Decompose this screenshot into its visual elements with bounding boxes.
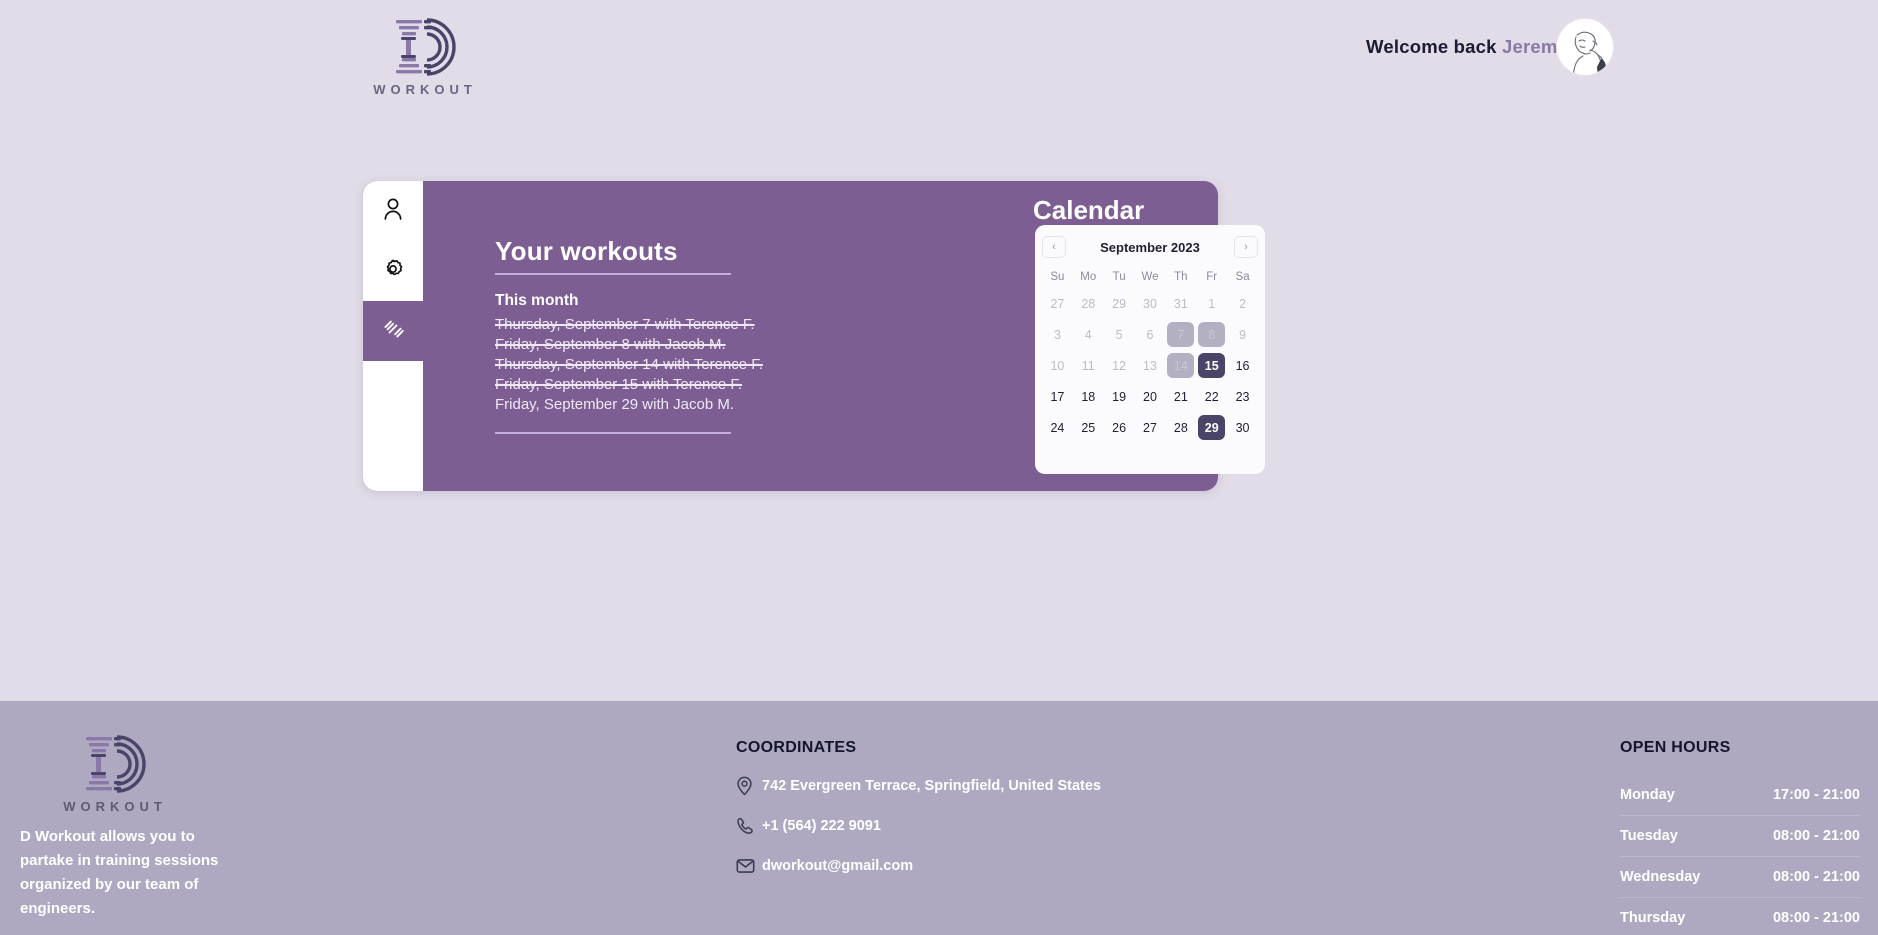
calendar-day-label: 18 xyxy=(1075,384,1102,409)
calendar-day[interactable]: 6 xyxy=(1135,320,1166,349)
gear-icon xyxy=(382,258,404,285)
calendar-day[interactable]: 27 xyxy=(1135,413,1166,442)
footer-brand-logo[interactable]: WORKOUT xyxy=(58,733,168,814)
calendar-day-label: 5 xyxy=(1106,322,1133,347)
calendar-day-label: 23 xyxy=(1229,384,1256,409)
page-title: Your workouts xyxy=(495,236,678,267)
calendar-day[interactable]: 20 xyxy=(1135,382,1166,411)
calendar-day[interactable]: 10 xyxy=(1042,351,1073,380)
calendar-day[interactable]: 1 xyxy=(1196,289,1227,318)
calendar-day[interactable]: 14 xyxy=(1165,351,1196,380)
open-hours-row: Wednesday08:00 - 21:00 xyxy=(1620,857,1860,898)
calendar-day-label: 16 xyxy=(1229,353,1256,378)
calendar-day[interactable]: 5 xyxy=(1104,320,1135,349)
calendar-day-label: 26 xyxy=(1106,415,1133,440)
calendar-day-label: 6 xyxy=(1136,322,1163,347)
calendar-panel[interactable]: ‹ September 2023 › SuMoTuWeThFrSa 272829… xyxy=(1035,225,1265,474)
calendar-day[interactable]: 17 xyxy=(1042,382,1073,411)
calendar-day-label: 28 xyxy=(1075,291,1102,316)
calendar-title: Calendar xyxy=(1033,195,1144,226)
calendar-day-label: 2 xyxy=(1229,291,1256,316)
calendar-day[interactable]: 30 xyxy=(1227,413,1258,442)
calendar-day-label: 4 xyxy=(1075,322,1102,347)
calendar-day-label: 31 xyxy=(1167,291,1194,316)
card-body: Your workouts This month Thursday, Septe… xyxy=(423,181,1218,491)
workout-list-item[interactable]: Thursday, September 7 with Terence F. xyxy=(495,315,763,335)
footer-coordinates-column: COORDINATES 742 Evergreen Terrace, Sprin… xyxy=(736,739,1156,895)
calendar-day[interactable]: 25 xyxy=(1073,413,1104,442)
calendar-weekday: Tu xyxy=(1104,265,1135,289)
workout-list-item[interactable]: Friday, September 29 with Jacob M. xyxy=(495,395,763,415)
open-hours-time: 08:00 - 21:00 xyxy=(1773,910,1860,926)
calendar-day[interactable]: 26 xyxy=(1104,413,1135,442)
open-hours-day: Monday xyxy=(1620,787,1675,803)
calendar-day-label: 14 xyxy=(1167,353,1194,378)
open-hours-row: Monday17:00 - 21:00 xyxy=(1620,775,1860,816)
footer-open-hours-column: OPEN HOURS Monday17:00 - 21:00Tuesday08:… xyxy=(1620,739,1860,935)
calendar-day-label: 25 xyxy=(1075,415,1102,440)
calendar-day[interactable]: 21 xyxy=(1165,382,1196,411)
calendar-day-label: 29 xyxy=(1198,415,1225,440)
calendar-day[interactable]: 29 xyxy=(1196,413,1227,442)
calendar-day-label: 17 xyxy=(1044,384,1071,409)
open-hours-heading: OPEN HOURS xyxy=(1620,739,1860,757)
workouts-subtitle: This month xyxy=(495,292,579,310)
workout-list-item[interactable]: Friday, September 8 with Jacob M. xyxy=(495,335,763,355)
calendar-day-label: 27 xyxy=(1044,291,1071,316)
calendar-day-label: 21 xyxy=(1167,384,1194,409)
calendar-month-label: September 2023 xyxy=(1066,240,1234,255)
calendar-day-label: 22 xyxy=(1198,384,1225,409)
calendar-day-label: 13 xyxy=(1136,353,1163,378)
open-hours-day: Tuesday xyxy=(1620,828,1678,844)
calendar-day[interactable]: 28 xyxy=(1073,289,1104,318)
open-hours-day: Wednesday xyxy=(1620,869,1700,885)
calendar-day[interactable]: 18 xyxy=(1073,382,1104,411)
calendar-day[interactable]: 24 xyxy=(1042,413,1073,442)
calendar-day[interactable]: 3 xyxy=(1042,320,1073,349)
calendar-weekday-row: SuMoTuWeThFrSa xyxy=(1042,265,1258,289)
welcome-message: Welcome back Jeremy xyxy=(1366,36,1568,58)
calendar-day[interactable]: 2 xyxy=(1227,289,1258,318)
sidebar-item-settings[interactable] xyxy=(363,241,423,301)
open-hours-list: Monday17:00 - 21:00Tuesday08:00 - 21:00W… xyxy=(1620,775,1860,935)
open-hours-row: Tuesday08:00 - 21:00 xyxy=(1620,816,1860,857)
brand-logo-icon xyxy=(380,16,466,78)
brand-logo-icon xyxy=(70,733,156,795)
sidebar-item-profile[interactable] xyxy=(363,181,423,241)
dumbbell-icon xyxy=(381,317,405,346)
calendar-day-grid[interactable]: 2728293031123456789101112131415161718192… xyxy=(1042,289,1258,442)
calendar-day-label: 20 xyxy=(1136,384,1163,409)
email-row[interactable]: dworkout@gmail.com xyxy=(736,855,1156,877)
footer-brand-wordmark: WORKOUT xyxy=(58,799,168,814)
calendar-weekday: Fr xyxy=(1196,265,1227,289)
page-footer: WORKOUT D Workout allows you to partake … xyxy=(0,701,1878,935)
calendar-weekday: Th xyxy=(1165,265,1196,289)
calendar-day[interactable]: 16 xyxy=(1227,351,1258,380)
calendar-day[interactable]: 23 xyxy=(1227,382,1258,411)
open-hours-time: 08:00 - 21:00 xyxy=(1773,869,1860,885)
calendar-day[interactable]: 13 xyxy=(1135,351,1166,380)
calendar-day[interactable]: 28 xyxy=(1165,413,1196,442)
calendar-next-button[interactable]: › xyxy=(1234,236,1258,258)
calendar-weekday: Mo xyxy=(1073,265,1104,289)
phone-icon xyxy=(736,817,762,836)
phone-text: +1 (564) 222 9091 xyxy=(762,818,881,834)
calendar-day-label: 29 xyxy=(1106,291,1133,316)
calendar-weekday: Su xyxy=(1042,265,1073,289)
calendar-day[interactable]: 22 xyxy=(1196,382,1227,411)
calendar-weekday: Sa xyxy=(1227,265,1258,289)
calendar-day-label: 3 xyxy=(1044,322,1071,347)
calendar-day[interactable]: 19 xyxy=(1104,382,1135,411)
envelope-icon xyxy=(736,858,762,874)
calendar-day[interactable]: 29 xyxy=(1104,289,1135,318)
coordinates-heading: COORDINATES xyxy=(736,739,1156,757)
welcome-prefix: Welcome back xyxy=(1366,36,1497,57)
location-pin-icon xyxy=(736,776,762,796)
calendar-day-label: 30 xyxy=(1136,291,1163,316)
calendar-day[interactable]: 12 xyxy=(1104,351,1135,380)
open-hours-day: Thursday xyxy=(1620,910,1685,926)
calendar-day-label: 11 xyxy=(1075,353,1102,378)
dashboard-card: Your workouts This month Thursday, Septe… xyxy=(363,181,1218,491)
address-row[interactable]: 742 Evergreen Terrace, Springfield, Unit… xyxy=(736,775,1156,797)
sidebar-item-workouts[interactable] xyxy=(363,301,423,361)
calendar-day[interactable]: 27 xyxy=(1042,289,1073,318)
footer-tagline: D Workout allows you to partake in train… xyxy=(20,825,230,921)
calendar-day-label: 27 xyxy=(1136,415,1163,440)
calendar-day[interactable]: 9 xyxy=(1227,320,1258,349)
calendar-day-label: 15 xyxy=(1198,353,1225,378)
avatar[interactable] xyxy=(1556,18,1614,76)
open-hours-time: 08:00 - 21:00 xyxy=(1773,828,1860,844)
calendar-day-label: 19 xyxy=(1106,384,1133,409)
person-icon xyxy=(383,198,403,225)
list-bottom-rule xyxy=(495,432,731,434)
calendar-day[interactable]: 30 xyxy=(1135,289,1166,318)
calendar-day[interactable]: 4 xyxy=(1073,320,1104,349)
calendar-day[interactable]: 7 xyxy=(1165,320,1196,349)
calendar-day[interactable]: 11 xyxy=(1073,351,1104,380)
calendar-day-label: 28 xyxy=(1167,415,1194,440)
calendar-day[interactable]: 15 xyxy=(1196,351,1227,380)
address-text: 742 Evergreen Terrace, Springfield, Unit… xyxy=(762,778,1101,794)
calendar-day[interactable]: 31 xyxy=(1165,289,1196,318)
calendar-day-label: 24 xyxy=(1044,415,1071,440)
calendar-weekday: We xyxy=(1135,265,1166,289)
brand-logo[interactable]: WORKOUT xyxy=(368,16,478,97)
calendar-prev-button[interactable]: ‹ xyxy=(1042,236,1066,258)
card-sidebar xyxy=(363,181,423,491)
calendar-day-label: 12 xyxy=(1106,353,1133,378)
workout-list: Thursday, September 7 with Terence F.Fri… xyxy=(495,315,763,415)
calendar-day-label: 30 xyxy=(1229,415,1256,440)
email-text: dworkout@gmail.com xyxy=(762,858,913,874)
page-header: WORKOUT Welcome back Jeremy xyxy=(0,0,1878,115)
workout-list-item[interactable]: Friday, September 15 with Terence F. xyxy=(495,375,763,395)
calendar-header: ‹ September 2023 › xyxy=(1042,233,1258,261)
open-hours-time: 17:00 - 21:00 xyxy=(1773,787,1860,803)
phone-row[interactable]: +1 (564) 222 9091 xyxy=(736,815,1156,837)
calendar-day-label: 7 xyxy=(1167,322,1194,347)
calendar-day-label: 8 xyxy=(1198,322,1225,347)
sidebar-spacer xyxy=(363,421,423,481)
calendar-day-label: 9 xyxy=(1229,322,1256,347)
open-hours-row: Thursday08:00 - 21:00 xyxy=(1620,898,1860,935)
calendar-day[interactable]: 8 xyxy=(1196,320,1227,349)
calendar-day-label: 10 xyxy=(1044,353,1071,378)
title-underline xyxy=(495,273,731,275)
calendar-day-label: 1 xyxy=(1198,291,1225,316)
brand-wordmark: WORKOUT xyxy=(368,82,478,97)
sidebar-spacer xyxy=(363,361,423,421)
workout-list-item[interactable]: Thursday, September 14 with Terence F. xyxy=(495,355,763,375)
